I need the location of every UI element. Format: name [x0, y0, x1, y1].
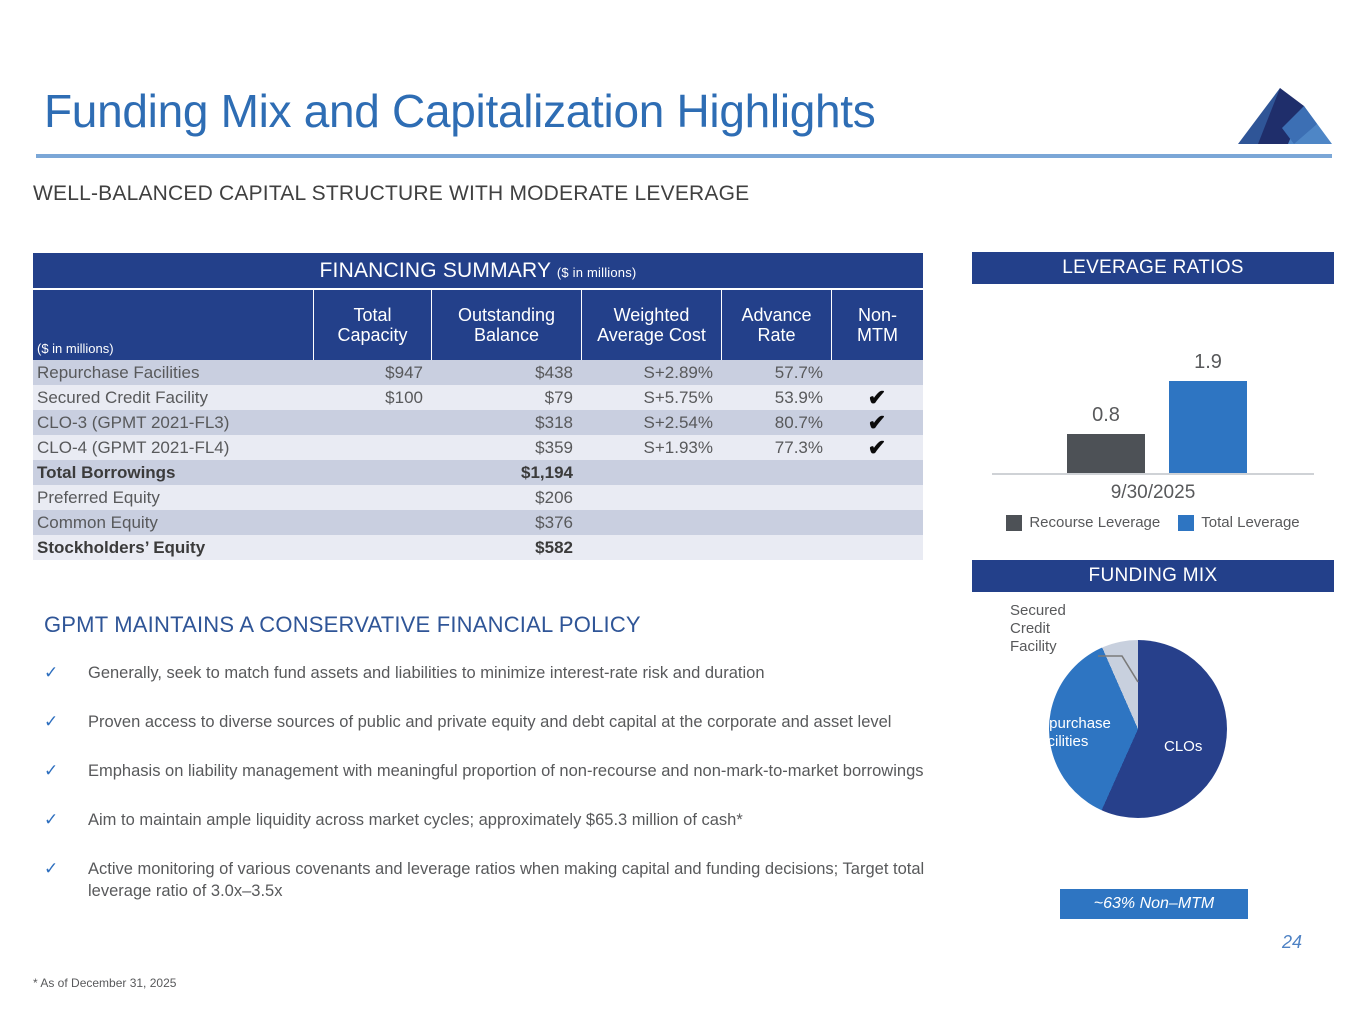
table-row: Total Borrowings$1,194 [33, 460, 923, 485]
cell-name: Preferred Equity [33, 488, 313, 508]
cell-name: Secured Credit Facility [33, 388, 313, 408]
cell-name: Common Equity [33, 513, 313, 533]
table-body: Repurchase Facilities$947$438S+2.89%57.7… [33, 360, 923, 560]
chart-axis-line [992, 473, 1314, 475]
column-header-outstanding-balance: OutstandingBalance [431, 290, 581, 360]
bar-label-total: 1.9 [1169, 351, 1247, 374]
cell-name: CLO-4 (GPMT 2021-FL4) [33, 438, 313, 458]
cell-non-mtm: ✔ [831, 387, 923, 409]
list-item: ✓Aim to maintain ample liquidity across … [44, 809, 934, 832]
list-item-text: Active monitoring of various covenants a… [88, 858, 934, 903]
mountain-logo-icon [1228, 84, 1332, 150]
cell-outstanding-balance: $206 [431, 488, 581, 508]
financing-summary-units: ($ in millions) [557, 265, 637, 280]
table-row: Common Equity$376 [33, 510, 923, 535]
table-row: Stockholders’ Equity$582 [33, 535, 923, 560]
cell-name: Repurchase Facilities [33, 363, 313, 383]
financing-summary-band: FINANCING SUMMARY ($ in millions) [33, 253, 923, 288]
cell-total-capacity: $100 [313, 388, 431, 408]
check-icon: ✓ [44, 760, 88, 783]
pie-label-clos: CLOs [1164, 738, 1202, 756]
bar-recourse-leverage [1067, 434, 1145, 473]
check-icon: ✓ [44, 711, 88, 734]
funding-mix-chart: SecuredCreditFacility RepurchaseFaciliti… [972, 598, 1334, 858]
table-row: Repurchase Facilities$947$438S+2.89%57.7… [33, 360, 923, 385]
bar-label-recourse: 0.8 [1067, 404, 1145, 427]
table-row: CLO-3 (GPMT 2021-FL3)$318S+2.54%80.7%✔ [33, 410, 923, 435]
legend-swatch-total [1178, 515, 1194, 531]
chart-legend: Recourse Leverage Total Leverage [972, 514, 1334, 531]
column-header-units: ($ in millions) [33, 290, 313, 360]
cell-advance-rate: 80.7% [721, 413, 831, 433]
policy-heading: GPMT MAINTAINS A CONSERVATIVE FINANCIAL … [44, 612, 641, 638]
pie-label-repurchase-facilities: RepurchaseFacilities [1030, 715, 1111, 751]
title-divider [36, 154, 1332, 158]
cell-outstanding-balance: $359 [431, 438, 581, 458]
check-icon: ✓ [44, 662, 88, 685]
leader-line-icon [1096, 638, 1156, 684]
column-header-non-mtm: Non-MTM [831, 290, 923, 360]
chart-x-axis-label: 9/30/2025 [972, 482, 1334, 504]
page-title: Funding Mix and Capitalization Highlight… [44, 84, 876, 138]
non-mtm-badge: ~63% Non–MTM [1060, 889, 1248, 919]
cell-outstanding-balance: $79 [431, 388, 581, 408]
policy-bullet-list: ✓Generally, seek to match fund assets an… [44, 662, 934, 928]
cell-non-mtm: ✔ [831, 412, 923, 434]
cell-advance-rate: 53.9% [721, 388, 831, 408]
cell-weighted-average-cost: S+2.89% [581, 363, 721, 383]
legend-item-total: Total Leverage [1178, 514, 1299, 531]
table-row: Preferred Equity$206 [33, 485, 923, 510]
cell-outstanding-balance: $438 [431, 363, 581, 383]
financing-summary-title: FINANCING SUMMARY [320, 259, 551, 282]
column-header-advance-rate: AdvanceRate [721, 290, 831, 360]
cell-non-mtm: ✔ [831, 437, 923, 459]
check-icon: ✓ [44, 858, 88, 903]
legend-item-recourse: Recourse Leverage [1006, 514, 1160, 531]
cell-name: Stockholders’ Equity [33, 538, 313, 558]
legend-swatch-recourse [1006, 515, 1022, 531]
table-row: Secured Credit Facility$100$79S+5.75%53.… [33, 385, 923, 410]
cell-outstanding-balance: $318 [431, 413, 581, 433]
pie-label-secured-credit-facility: SecuredCreditFacility [1010, 602, 1066, 656]
cell-weighted-average-cost: S+2.54% [581, 413, 721, 433]
leverage-ratios-chart: 0.8 1.9 9/30/2025 Recourse Leverage Tota… [972, 292, 1334, 547]
table-header-row: ($ in millions) TotalCapacity Outstandin… [33, 288, 923, 360]
check-icon: ✓ [44, 809, 88, 832]
financing-summary-table: FINANCING SUMMARY ($ in millions) ($ in … [33, 253, 923, 560]
list-item-text: Generally, seek to match fund assets and… [88, 662, 765, 685]
footnote: * As of December 31, 2025 [33, 976, 176, 990]
list-item: ✓Emphasis on liability management with m… [44, 760, 934, 783]
table-row: CLO-4 (GPMT 2021-FL4)$359S+1.93%77.3%✔ [33, 435, 923, 460]
cell-outstanding-balance: $376 [431, 513, 581, 533]
list-item: ✓Proven access to diverse sources of pub… [44, 711, 934, 734]
column-header-total-capacity: TotalCapacity [313, 290, 431, 360]
page-number: 24 [1282, 932, 1302, 953]
legend-label-total: Total Leverage [1201, 514, 1299, 531]
cell-advance-rate: 57.7% [721, 363, 831, 383]
list-item-text: Proven access to diverse sources of publ… [88, 711, 891, 734]
legend-label-recourse: Recourse Leverage [1029, 514, 1160, 531]
cell-advance-rate: 77.3% [721, 438, 831, 458]
list-item-text: Emphasis on liability management with me… [88, 760, 924, 783]
column-header-weighted-average-cost: WeightedAverage Cost [581, 290, 721, 360]
leverage-ratios-title: LEVERAGE RATIOS [972, 252, 1334, 284]
list-item-text: Aim to maintain ample liquidity across m… [88, 809, 743, 832]
cell-name: Total Borrowings [33, 463, 313, 483]
funding-mix-title: FUNDING MIX [972, 560, 1334, 592]
bar-total-leverage [1169, 381, 1247, 473]
cell-name: CLO-3 (GPMT 2021-FL3) [33, 413, 313, 433]
page-subtitle: WELL-BALANCED CAPITAL STRUCTURE WITH MOD… [33, 182, 749, 206]
cell-outstanding-balance: $1,194 [431, 463, 581, 483]
cell-weighted-average-cost: S+1.93% [581, 438, 721, 458]
cell-weighted-average-cost: S+5.75% [581, 388, 721, 408]
cell-total-capacity: $947 [313, 363, 431, 383]
cell-outstanding-balance: $582 [431, 538, 581, 558]
list-item: ✓Generally, seek to match fund assets an… [44, 662, 934, 685]
list-item: ✓Active monitoring of various covenants … [44, 858, 934, 903]
